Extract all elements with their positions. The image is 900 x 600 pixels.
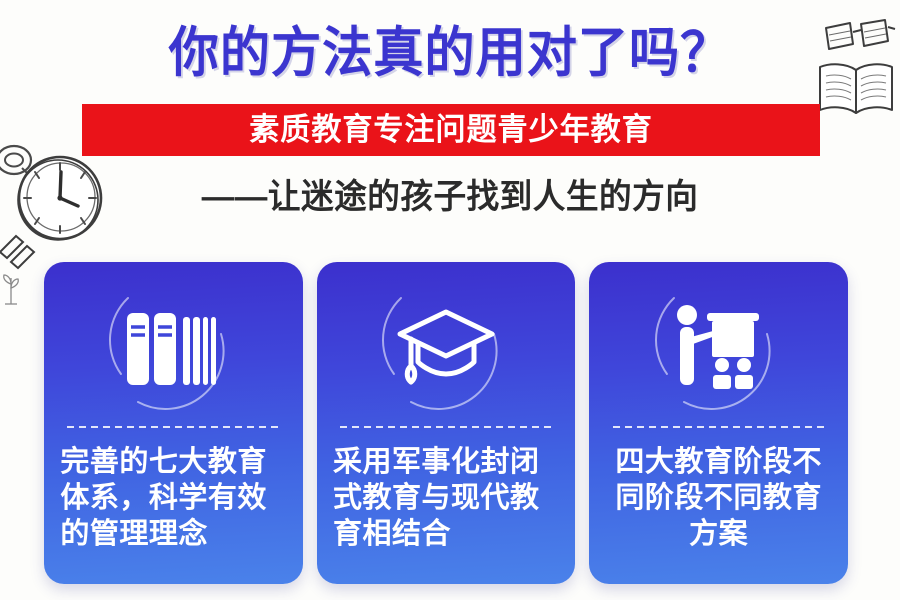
decor-arc	[634, 278, 804, 418]
banner-text: 素质教育专注问题青少年教育	[249, 113, 653, 147]
decor-arc	[361, 278, 531, 418]
card-1-icon-area	[88, 278, 258, 418]
card-2-text: 采用军事化封闭式教育与现代教育相结合	[333, 444, 559, 552]
plant-doodle	[0, 272, 24, 313]
card-3-icon-area	[634, 278, 804, 418]
decor-arc	[88, 278, 258, 418]
feature-card-2[interactable]: 采用军事化封闭式教育与现代教育相结合	[317, 262, 576, 584]
card-2-icon-area	[361, 278, 531, 418]
card-3-divider	[613, 426, 825, 428]
red-banner: 素质教育专注问题青少年教育	[82, 104, 820, 156]
bars-doodle	[0, 232, 40, 277]
card-1-divider	[67, 426, 279, 428]
card-1-text: 完善的七大教育体系，科学有效的管理理念	[60, 444, 286, 552]
feature-card-1[interactable]: 完善的七大教育体系，科学有效的管理理念	[44, 262, 303, 584]
feature-card-list: 完善的七大教育体系，科学有效的管理理念 采用军事化	[44, 262, 848, 584]
feature-card-3[interactable]: 四大教育阶段不同阶段不同教育方案	[589, 262, 848, 584]
subtitle: ——让迷途的孩子找到人生的方向	[18, 176, 882, 218]
page-title: 你的方法真的用对了吗？	[32, 22, 869, 84]
card-2-divider	[340, 426, 552, 428]
poster-canvas: 你的方法真的用对了吗？ 素质教育专注问题青少年教育 ——让迷途的孩子找到人生的方…	[0, 0, 900, 600]
card-3-text: 四大教育阶段不同阶段不同教育方案	[606, 444, 832, 552]
